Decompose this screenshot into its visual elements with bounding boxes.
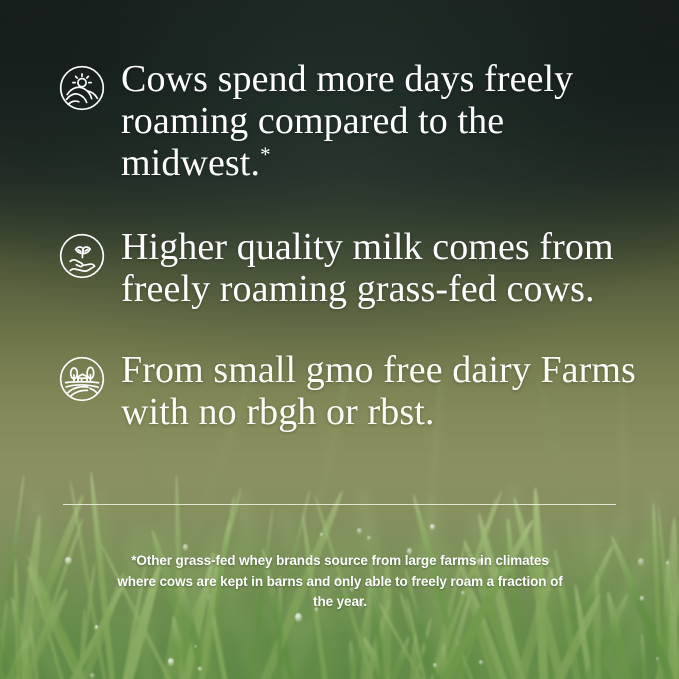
- farm-barn-with-trees-icon: [57, 354, 107, 404]
- feature-3-text: From small gmo free dairy Farms with no …: [121, 349, 637, 433]
- footnote: *Other grass-fed whey brands source from…: [112, 551, 568, 613]
- content-layer: Cows spend more days freely roaming comp…: [0, 0, 679, 679]
- feature-1-text: Cows spend more days freely roaming comp…: [121, 58, 637, 185]
- hand-holding-sprout-icon: [57, 231, 107, 281]
- feature-1-footnote-marker: *: [260, 143, 271, 167]
- sun-over-field-icon: [57, 63, 107, 113]
- feature-2-text: Higher quality milk comes from freely ro…: [121, 226, 637, 310]
- divider: [63, 504, 616, 505]
- feature-3-label: From small gmo free dairy Farms with no …: [121, 349, 636, 433]
- feature-row-3: From small gmo free dairy Farms with no …: [57, 349, 637, 433]
- feature-row-2: Higher quality milk comes from freely ro…: [57, 226, 637, 310]
- feature-2-label: Higher quality milk comes from freely ro…: [121, 226, 614, 310]
- marketing-graphic: Cows spend more days freely roaming comp…: [0, 0, 679, 679]
- feature-row-1: Cows spend more days freely roaming comp…: [57, 58, 637, 185]
- feature-1-label: Cows spend more days freely roaming comp…: [121, 58, 573, 184]
